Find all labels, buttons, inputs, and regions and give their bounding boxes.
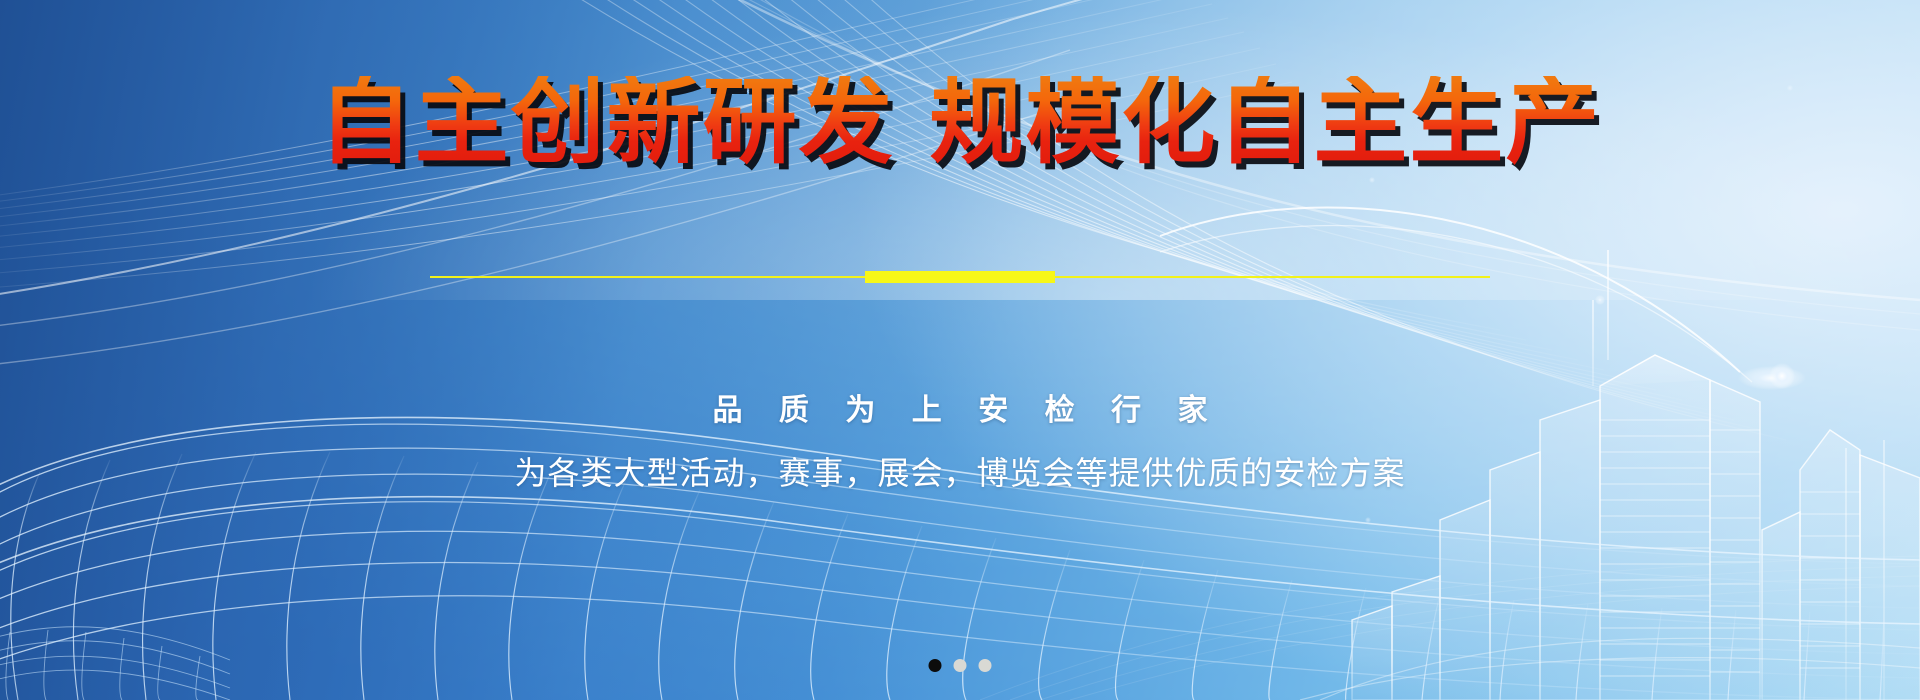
hero-banner: 自主创新研发 规模化自主生产 品 质 为 上 安 检 行 家 为各类大型活动，赛… — [0, 0, 1920, 700]
carousel-pagination[interactable] — [929, 659, 992, 672]
carousel-dot-1[interactable] — [929, 659, 942, 672]
divider-accent-bar — [865, 271, 1055, 283]
subtitle-secondary: 为各类大型活动，赛事，展会，博览会等提供优质的安检方案 — [0, 448, 1920, 494]
subtitle-primary: 品 质 为 上 安 检 行 家 — [0, 385, 1920, 429]
carousel-dot-3[interactable] — [979, 659, 992, 672]
page-title: 自主创新研发 规模化自主生产 — [0, 76, 1920, 170]
banner-content: 自主创新研发 规模化自主生产 品 质 为 上 安 检 行 家 为各类大型活动，赛… — [0, 0, 1920, 700]
carousel-dot-2[interactable] — [954, 659, 967, 672]
title-divider — [430, 271, 1490, 283]
